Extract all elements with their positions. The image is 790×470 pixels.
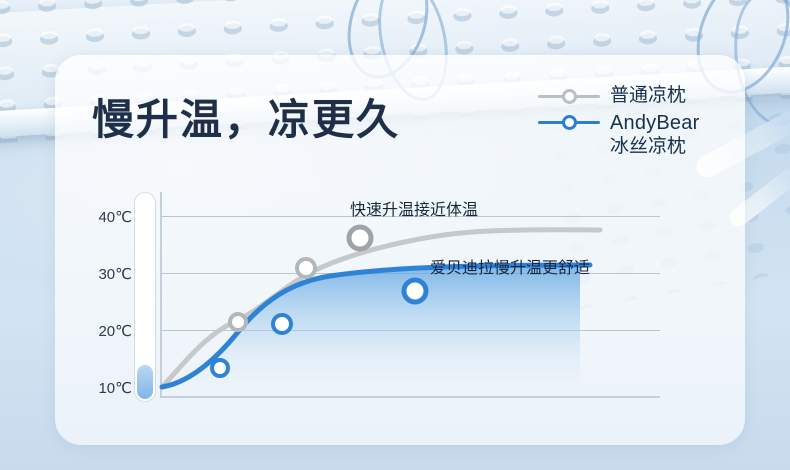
legend-item-ordinary: 普通凉枕 <box>538 78 748 112</box>
y-tick-20: 20℃ <box>98 322 132 340</box>
marker-ordinary-3 <box>349 227 371 249</box>
legend-swatch-ordinary <box>538 88 600 104</box>
legend-item-andybear: AndyBear 冰丝凉枕 <box>538 112 748 158</box>
marker-andybear-1 <box>212 360 228 376</box>
y-tick-10: 10℃ <box>98 379 132 397</box>
y-axis-labels: 40℃ 30℃ 20℃ 10℃ <box>92 186 132 416</box>
annotation-bottom: 爱贝迪拉慢升温更舒适 <box>430 254 590 278</box>
legend-label-ordinary: 普通凉枕 <box>610 84 686 107</box>
chart-legend: 普通凉枕 AndyBear 冰丝凉枕 <box>538 78 748 158</box>
screenshot-root: 慢升温，凉更久 普通凉枕 AndyBear 冰丝凉枕 40℃ 30℃ 20℃ <box>0 0 790 470</box>
y-tick-30: 30℃ <box>98 265 132 283</box>
chart-plot <box>160 186 660 416</box>
temperature-chart: 40℃ 30℃ 20℃ 10℃ <box>92 186 662 416</box>
y-tick-40: 40℃ <box>98 208 132 226</box>
legend-label-andybear-cn: 冰丝凉枕 <box>610 136 686 157</box>
thermometer-icon <box>134 192 156 402</box>
legend-label-andybear: AndyBear 冰丝凉枕 <box>610 112 699 158</box>
annotation-top: 快速升温接近体温 <box>350 196 478 220</box>
marker-ordinary-1 <box>230 314 246 330</box>
marker-andybear-3 <box>404 280 426 302</box>
legend-swatch-andybear <box>538 114 600 130</box>
thermometer-fill <box>137 365 153 399</box>
legend-label-andybear-en: AndyBear <box>610 112 699 134</box>
page-title: 慢升温，凉更久 <box>92 86 400 147</box>
marker-andybear-2 <box>273 315 291 333</box>
marker-ordinary-2 <box>297 259 315 277</box>
